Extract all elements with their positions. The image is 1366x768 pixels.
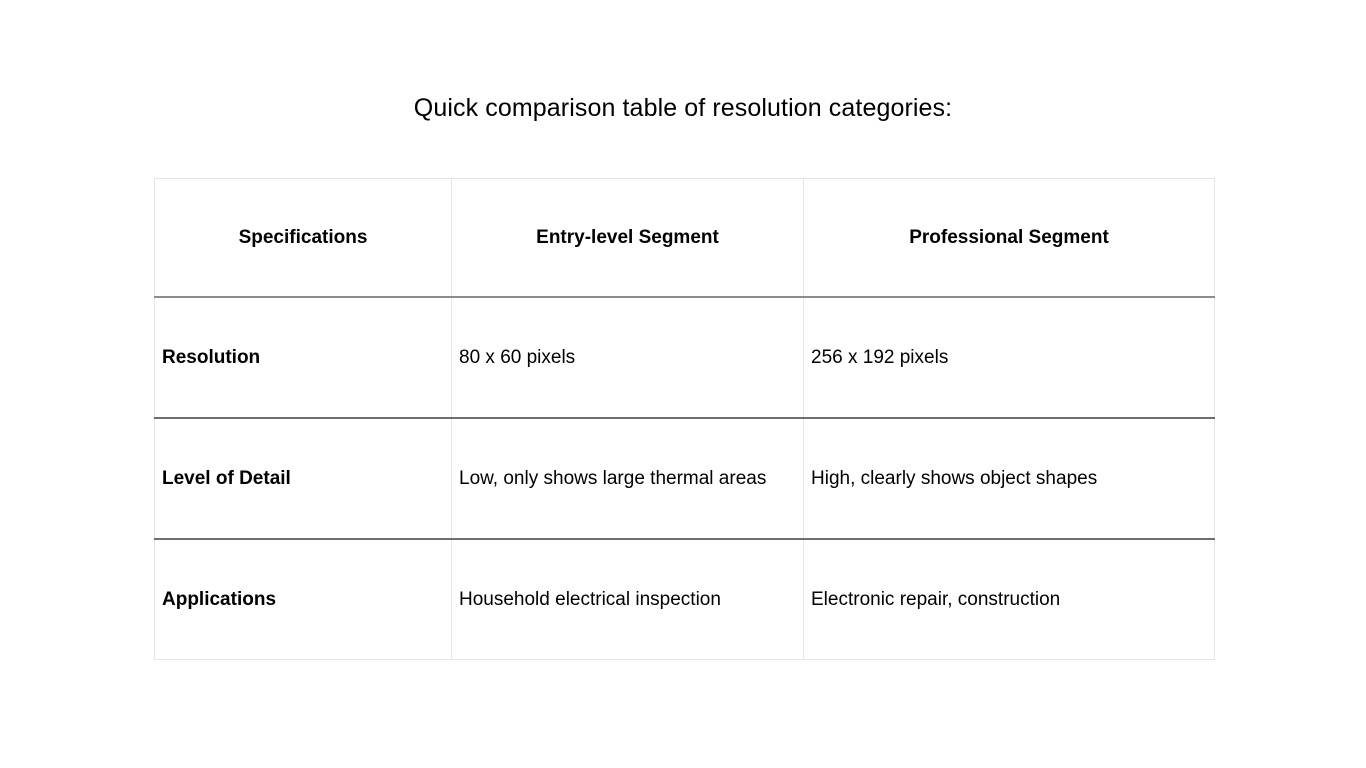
- table-row: Resolution 80 x 60 pixels 256 x 192 pixe…: [155, 297, 1215, 418]
- row-label-level-of-detail: Level of Detail: [155, 418, 452, 539]
- cell-resolution-professional: 256 x 192 pixels: [804, 297, 1215, 418]
- column-header-professional-segment: Professional Segment: [804, 179, 1215, 298]
- row-label-resolution: Resolution: [155, 297, 452, 418]
- table-header: Specifications Entry-level Segment Profe…: [155, 179, 1215, 298]
- cell-applications-professional: Electronic repair, construction: [804, 539, 1215, 660]
- row-label-applications: Applications: [155, 539, 452, 660]
- comparison-table-container: Specifications Entry-level Segment Profe…: [154, 178, 1214, 660]
- cell-level-of-detail-professional: High, clearly shows object shapes: [804, 418, 1215, 539]
- cell-applications-entry-level: Household electrical inspection: [452, 539, 804, 660]
- column-header-specifications: Specifications: [155, 179, 452, 298]
- table-row: Applications Household electrical inspec…: [155, 539, 1215, 660]
- table-body: Resolution 80 x 60 pixels 256 x 192 pixe…: [155, 297, 1215, 660]
- cell-level-of-detail-entry-level: Low, only shows large thermal areas: [452, 418, 804, 539]
- table-row: Level of Detail Low, only shows large th…: [155, 418, 1215, 539]
- cell-resolution-entry-level: 80 x 60 pixels: [452, 297, 804, 418]
- document-page: Quick comparison table of resolution cat…: [0, 0, 1366, 768]
- column-header-entry-level-segment: Entry-level Segment: [452, 179, 804, 298]
- page-title: Quick comparison table of resolution cat…: [0, 88, 1366, 128]
- resolution-comparison-table: Specifications Entry-level Segment Profe…: [154, 178, 1215, 660]
- table-header-row: Specifications Entry-level Segment Profe…: [155, 179, 1215, 298]
